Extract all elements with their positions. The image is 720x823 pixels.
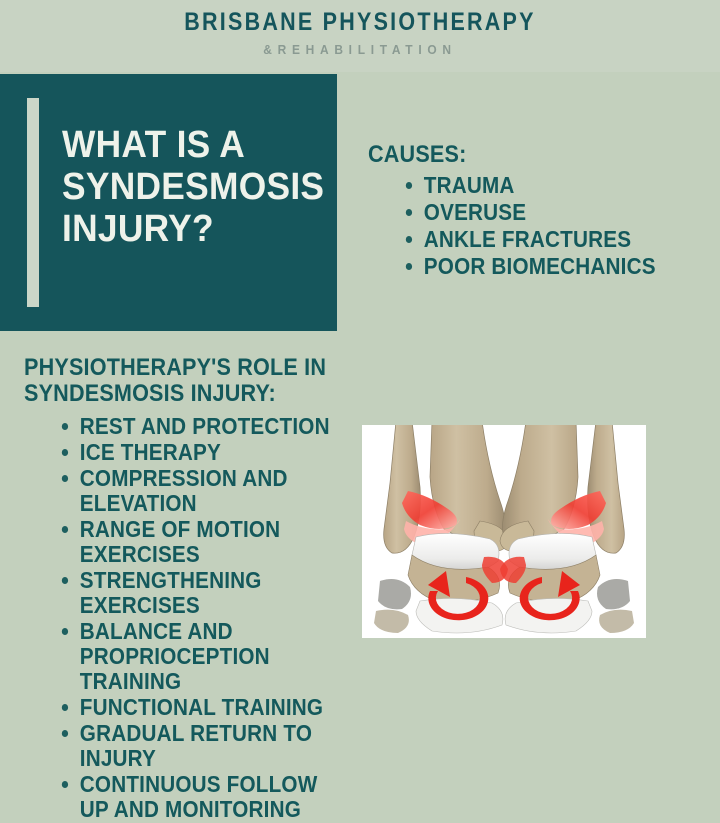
physiotherapy-role-item: BALANCE AND PROPRIOCEPTION TRAINING (60, 619, 334, 694)
page-title-line-1: SYNDESMOSIS (62, 166, 311, 208)
physiotherapy-role-list: REST AND PROTECTIONICE THERAPYCOMPRESSIO… (60, 414, 364, 822)
causes-item: POOR BIOMECHANICS (404, 254, 678, 279)
physiotherapy-role-item: REST AND PROTECTION (60, 414, 334, 439)
causes-heading-line-0: CAUSES: (368, 142, 674, 168)
causes-section: CAUSES: TRAUMAOVERUSEANKLE FRACTURESPOOR… (368, 142, 708, 281)
physiotherapy-role-item: STRENGTHENING EXERCISES (60, 568, 334, 618)
page-title-line-0: WHAT IS A (62, 124, 311, 166)
causes-list: TRAUMAOVERUSEANKLE FRACTURESPOOR BIOMECH… (404, 173, 708, 279)
physiotherapy-role-heading: PHYSIOTHERAPY'S ROLE INSYNDESMOSIS INJUR… (24, 355, 330, 407)
physiotherapy-role-item: GRADUAL RETURN TO INJURY (60, 721, 334, 771)
ankle-anatomy-image-panel (362, 425, 646, 638)
causes-item: TRAUMA (404, 173, 678, 198)
causes-heading: CAUSES: (368, 142, 674, 168)
brand-header: BRISBANE PHYSIOTHERAPY &REHABILITATION (0, 0, 720, 72)
physiotherapy-role-heading-line-0: PHYSIOTHERAPY'S ROLE IN (24, 355, 330, 381)
page-title-line-2: INJURY? (62, 208, 311, 250)
causes-item: OVERUSE (404, 200, 678, 225)
title-block: WHAT IS ASYNDESMOSISINJURY? (0, 74, 337, 331)
physiotherapy-role-heading-line-1: SYNDESMOSIS INJURY: (24, 381, 330, 407)
physiotherapy-role-item: FUNCTIONAL TRAINING (60, 695, 334, 720)
physiotherapy-role-item: CONTINUOUS FOLLOW UP AND MONITORING (60, 772, 334, 822)
ankle-syndesmosis-diagram-icon (362, 425, 646, 638)
page-title: WHAT IS ASYNDESMOSISINJURY? (62, 124, 311, 250)
brand-title: BRISBANE PHYSIOTHERAPY (50, 0, 669, 37)
physiotherapy-role-item: RANGE OF MOTION EXERCISES (60, 517, 334, 567)
physiotherapy-role-item: ICE THERAPY (60, 440, 334, 465)
title-accent-bar (27, 98, 39, 307)
causes-item: ANKLE FRACTURES (404, 227, 678, 252)
brand-subtitle: &REHABILITATION (29, 37, 691, 57)
physiotherapy-role-section: PHYSIOTHERAPY'S ROLE INSYNDESMOSIS INJUR… (24, 355, 364, 823)
physiotherapy-role-item: COMPRESSION AND ELEVATION (60, 466, 334, 516)
